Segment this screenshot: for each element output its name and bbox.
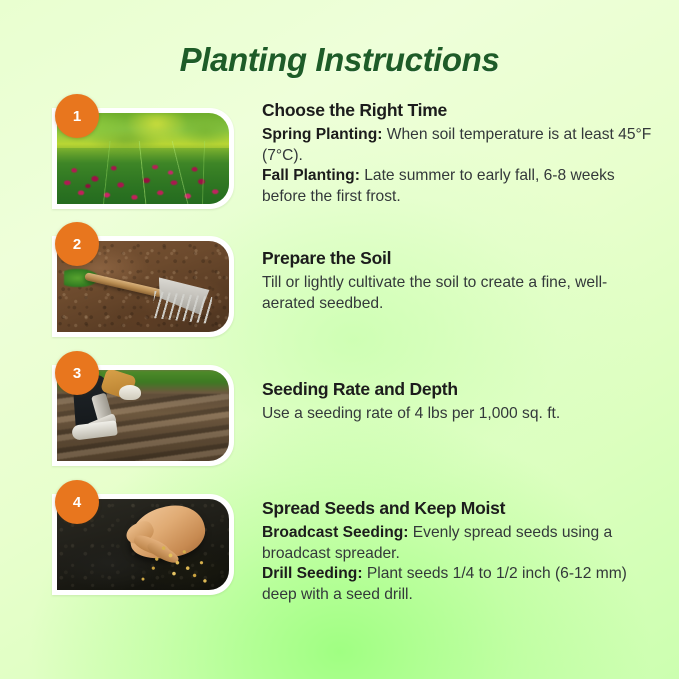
step-line-label: Fall Planting:	[262, 167, 360, 184]
step-item: 3	[52, 351, 659, 466]
step-line-label: Drill Seeding:	[262, 565, 363, 582]
step-number-badge: 3	[55, 351, 99, 395]
step-photo-wrap: 1	[52, 94, 234, 209]
step-heading: Choose the Right Time	[262, 100, 659, 122]
step-line-label: Spring Planting:	[262, 126, 382, 143]
step-photo-wrap: 4	[52, 480, 234, 595]
step-line: Fall Planting: Late summer to early fall…	[262, 166, 659, 207]
step-photo-wrap: 3	[52, 351, 234, 466]
step-text: Choose the Right Time Spring Planting: W…	[234, 94, 659, 207]
step-item: 2 Prepare the Soil	[52, 222, 659, 337]
step-photo-wrap: 2	[52, 222, 234, 337]
page-title: Planting Instructions	[0, 0, 679, 78]
step-body: Spring Planting: When soil temperature i…	[262, 125, 659, 207]
step-line: Broadcast Seeding: Evenly spread seeds u…	[262, 523, 659, 564]
step-line-text: Use a seeding rate of 4 lbs per 1,000 sq…	[262, 405, 560, 422]
step-number-badge: 1	[55, 94, 99, 138]
step-item: 1 Choose the Right Time	[52, 94, 659, 209]
step-line: Drill Seeding: Plant seeds 1/4 to 1/2 in…	[262, 564, 659, 605]
step-text: Spread Seeds and Keep Moist Broadcast Se…	[234, 480, 659, 605]
step-line-label: Broadcast Seeding:	[262, 524, 408, 541]
step-heading: Spread Seeds and Keep Moist	[262, 498, 659, 520]
step-line: Till or lightly cultivate the soil to cr…	[262, 273, 659, 314]
step-line: Use a seeding rate of 4 lbs per 1,000 sq…	[262, 404, 659, 425]
step-body: Broadcast Seeding: Evenly spread seeds u…	[262, 523, 659, 605]
steps-list: 1 Choose the Right Time	[0, 94, 679, 605]
step-item: 4 Sprea	[52, 480, 659, 605]
step-text: Prepare the Soil Till or lightly cultiva…	[234, 222, 659, 314]
step-heading: Seeding Rate and Depth	[262, 379, 659, 401]
step-line-text: Till or lightly cultivate the soil to cr…	[262, 274, 607, 312]
step-body: Till or lightly cultivate the soil to cr…	[262, 273, 659, 314]
infographic-page: Planting Instructions 1	[0, 0, 679, 679]
step-number-badge: 2	[55, 222, 99, 266]
step-heading: Prepare the Soil	[262, 248, 659, 270]
step-body: Use a seeding rate of 4 lbs per 1,000 sq…	[262, 404, 659, 425]
step-line: Spring Planting: When soil temperature i…	[262, 125, 659, 166]
step-number-badge: 4	[55, 480, 99, 524]
step-text: Seeding Rate and Depth Use a seeding rat…	[234, 351, 659, 424]
